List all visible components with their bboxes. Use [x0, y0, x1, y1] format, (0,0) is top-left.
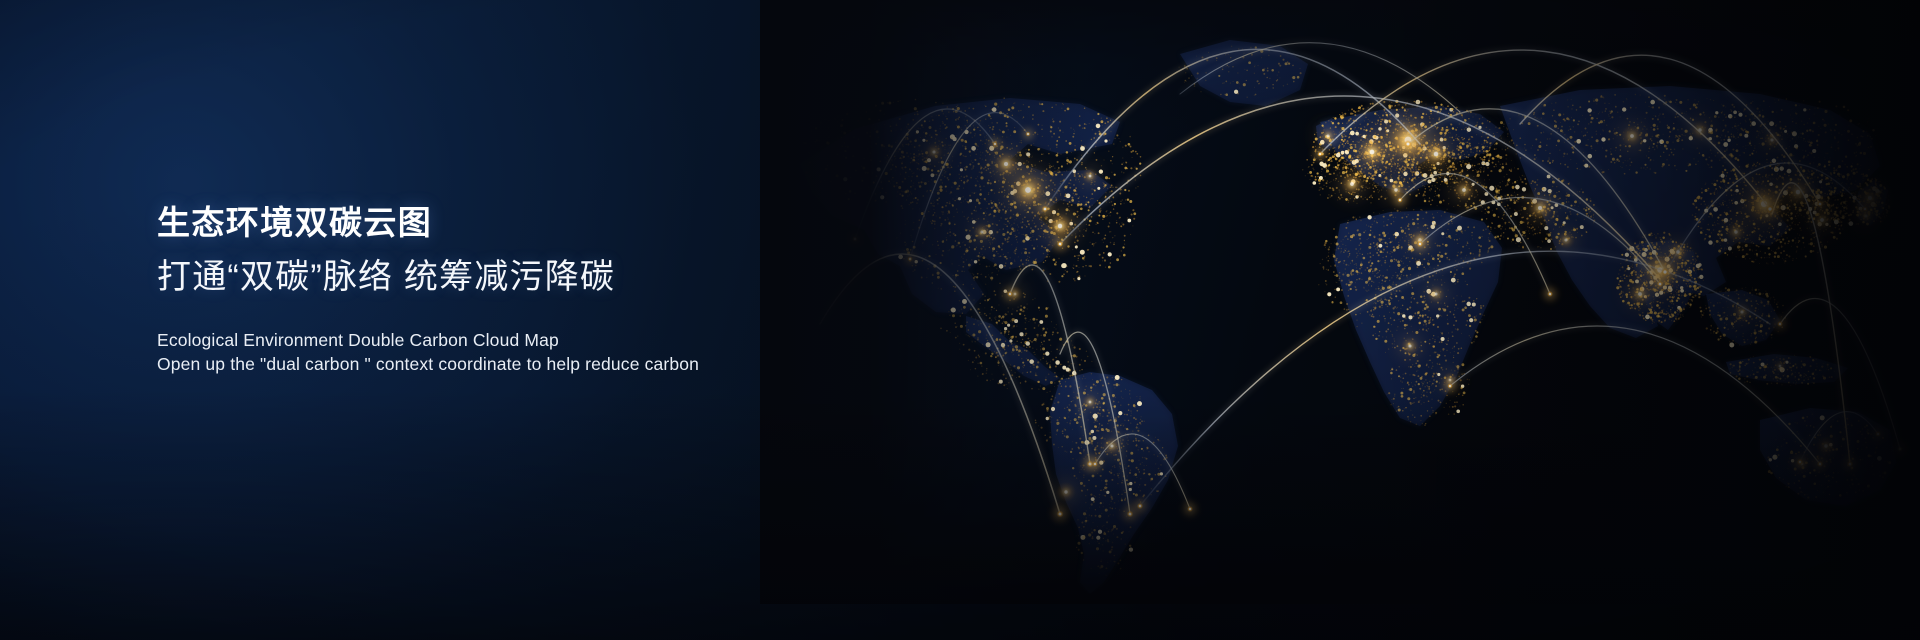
banner-subtitle-chinese: 打通“双碳”脉络 统筹减污降碳 — [157, 260, 917, 294]
carbon-cloud-map-banner: 生态环境双碳云图 打通“双碳”脉络 统筹减污降碳 Ecological Envi… — [0, 0, 1920, 640]
banner-english-line-2: Open up the "dual carbon " context coord… — [157, 352, 917, 376]
banner-text-block: 生态环境双碳云图 打通“双碳”脉络 统筹减污降碳 Ecological Envi… — [157, 206, 917, 376]
banner-title-chinese: 生态环境双碳云图 — [157, 206, 917, 239]
banner-english-line-1: Ecological Environment Double Carbon Clo… — [157, 328, 917, 352]
